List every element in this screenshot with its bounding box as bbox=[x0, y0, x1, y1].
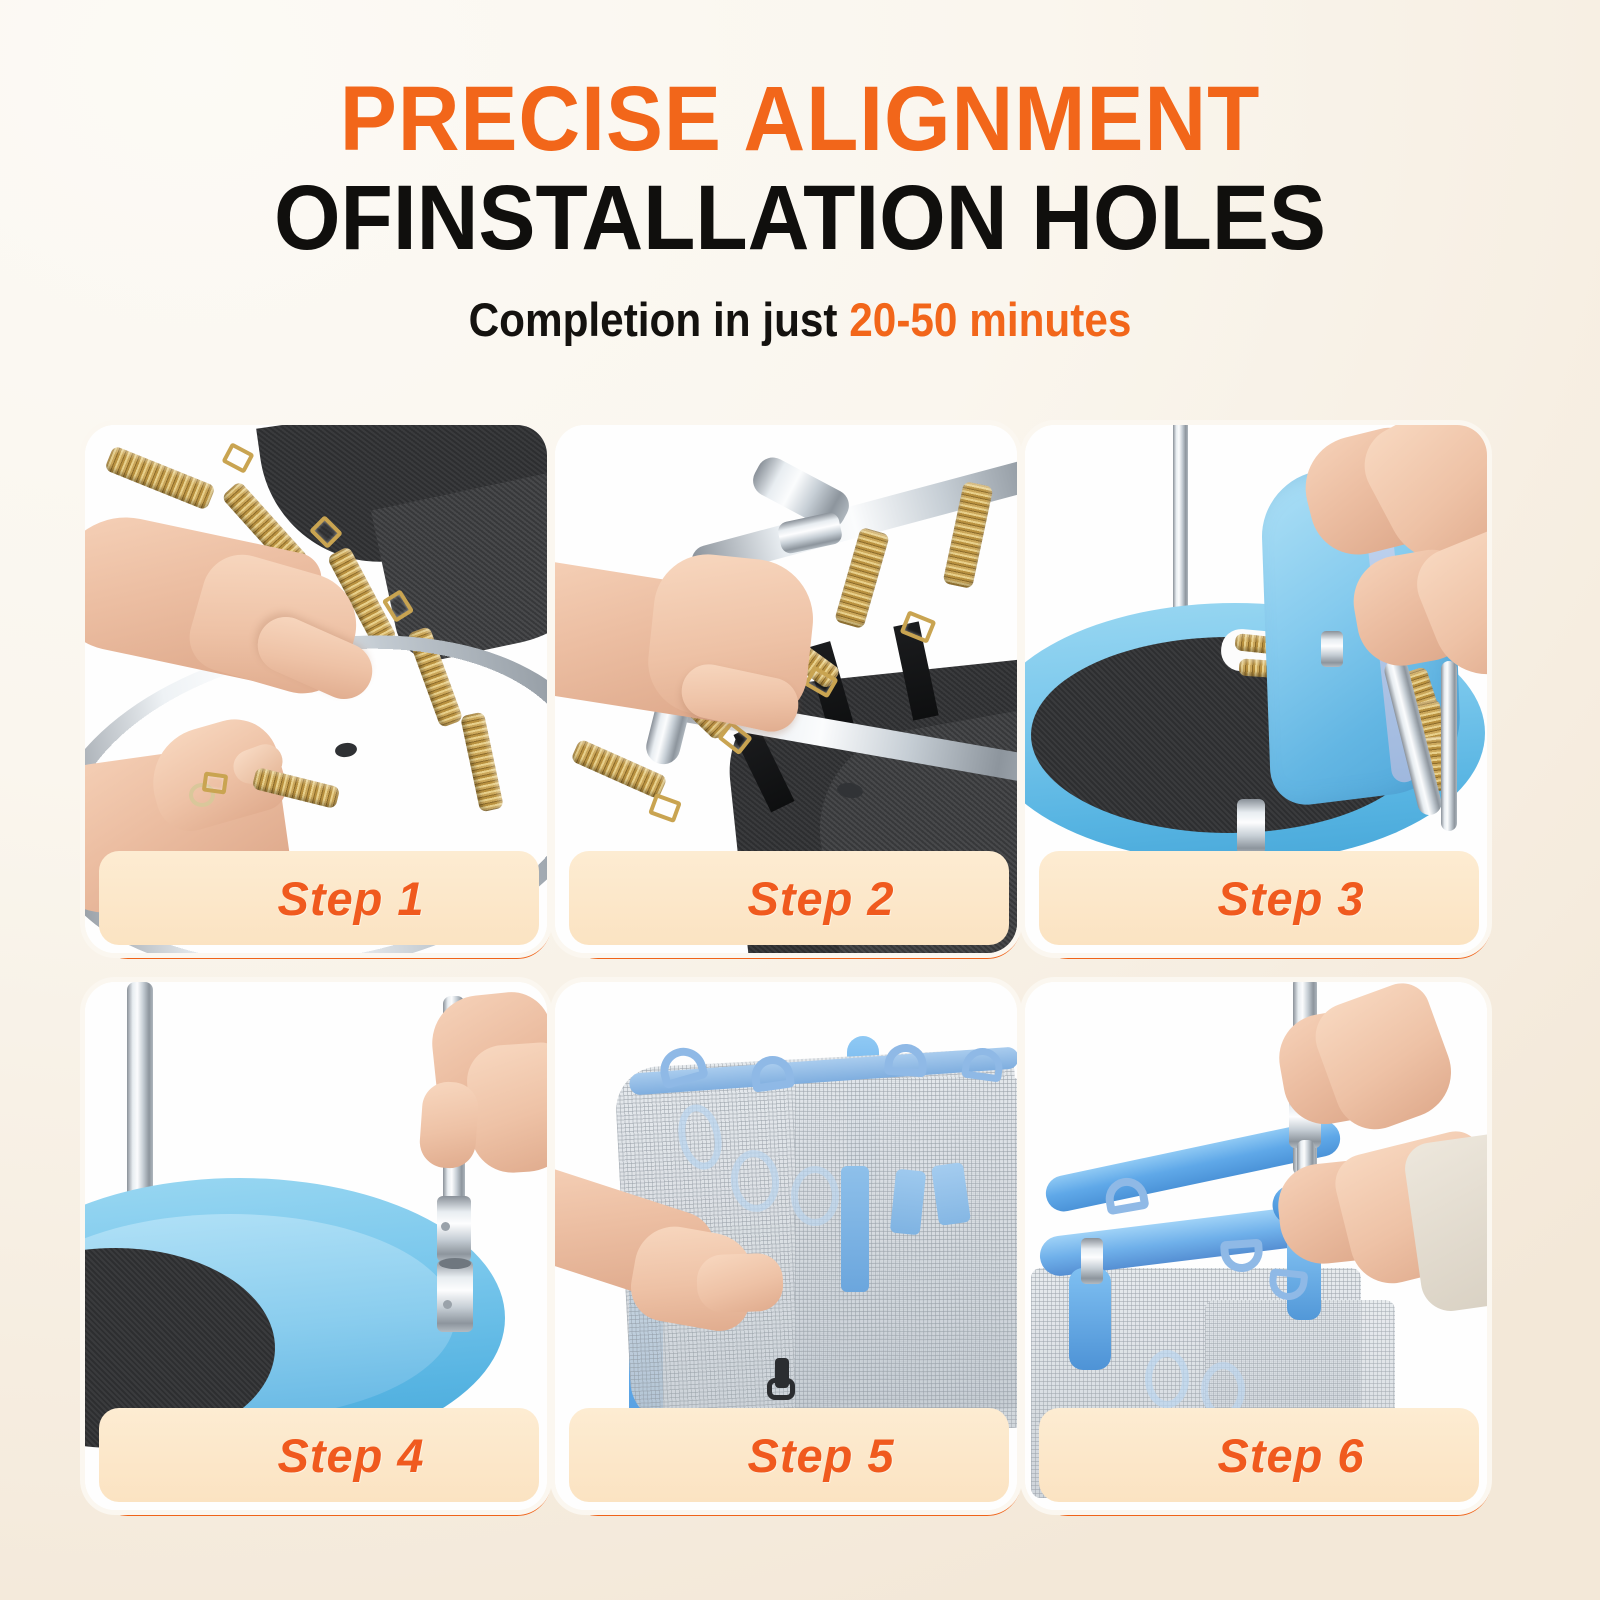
step-banner-6: Step 6 bbox=[1039, 1408, 1479, 1502]
card-body: Step 5 bbox=[555, 982, 1017, 1510]
subtitle-highlight-text: 20-50 minutes bbox=[849, 293, 1131, 346]
step-label-5: Step 5 bbox=[747, 1428, 894, 1483]
page-subtitle: Completion in just 20-50 minutes bbox=[80, 296, 1520, 343]
step-label-1: Step 1 bbox=[277, 871, 424, 926]
steps-grid: Step 1 bbox=[85, 425, 1515, 1540]
card-body: Step 4 bbox=[85, 982, 547, 1510]
step-banner-2: Step 2 bbox=[569, 851, 1009, 945]
step-card-2[interactable]: Step 2 bbox=[555, 425, 1017, 953]
card-body: Step 6 bbox=[1025, 982, 1487, 1510]
card-body: Step 1 bbox=[85, 425, 547, 953]
page-title-line-1: PRECISE ALIGNMENT bbox=[56, 74, 1544, 164]
card-body: Step 2 bbox=[555, 425, 1017, 953]
page-header: PRECISE ALIGNMENT OFINSTALLATION HOLES C… bbox=[0, 0, 1600, 343]
step-banner-4: Step 4 bbox=[99, 1408, 539, 1502]
step-label-3: Step 3 bbox=[1217, 871, 1364, 926]
step-label-4: Step 4 bbox=[277, 1428, 424, 1483]
step-card-5[interactable]: Step 5 bbox=[555, 982, 1017, 1510]
subtitle-plain-text: Completion in just bbox=[469, 293, 850, 346]
card-body: Step 3 bbox=[1025, 425, 1487, 953]
page-title-line-2: OFINSTALLATION HOLES bbox=[56, 172, 1544, 266]
step-label-6: Step 6 bbox=[1217, 1428, 1364, 1483]
step-card-4[interactable]: Step 4 bbox=[85, 982, 547, 1510]
step-card-3[interactable]: Step 3 bbox=[1025, 425, 1487, 953]
step-banner-3: Step 3 bbox=[1039, 851, 1479, 945]
step-banner-5: Step 5 bbox=[569, 1408, 1009, 1502]
step-card-6[interactable]: Step 6 bbox=[1025, 982, 1487, 1510]
step-card-1[interactable]: Step 1 bbox=[85, 425, 547, 953]
step-label-2: Step 2 bbox=[747, 871, 894, 926]
step-banner-1: Step 1 bbox=[99, 851, 539, 945]
